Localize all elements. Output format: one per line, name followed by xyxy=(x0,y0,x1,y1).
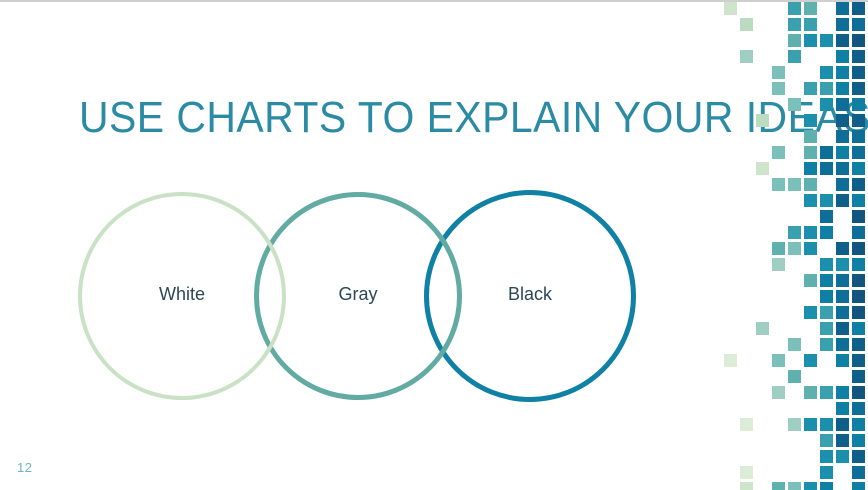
mosaic-cell xyxy=(852,386,865,399)
mosaic-cell xyxy=(836,114,849,127)
mosaic-cell xyxy=(820,322,833,335)
mosaic-cell xyxy=(788,34,801,47)
mosaic-cell xyxy=(772,354,785,367)
mosaic-cell xyxy=(820,82,833,95)
mosaic-cell xyxy=(836,418,849,431)
mosaic-cell xyxy=(836,146,849,159)
mosaic-cell xyxy=(836,306,849,319)
mosaic-cell xyxy=(740,50,753,63)
mosaic-cell xyxy=(852,50,865,63)
mosaic-cell xyxy=(788,98,801,111)
mosaic-cell xyxy=(852,194,865,207)
mosaic-cell xyxy=(852,18,865,31)
mosaic-cell xyxy=(788,418,801,431)
mosaic-cell xyxy=(772,258,785,271)
mosaic-cell xyxy=(820,194,833,207)
mosaic-cell xyxy=(836,450,849,463)
mosaic-cell xyxy=(820,434,833,447)
mosaic-cell xyxy=(820,146,833,159)
mosaic-cell xyxy=(836,50,849,63)
mosaic-cell xyxy=(772,66,785,79)
mosaic-cell xyxy=(852,130,865,143)
mosaic-cell xyxy=(836,274,849,287)
mosaic-cell xyxy=(852,146,865,159)
mosaic-cell xyxy=(836,402,849,415)
mosaic-cell xyxy=(852,482,865,490)
mosaic-cell xyxy=(852,114,865,127)
mosaic-cell xyxy=(804,162,817,175)
mosaic-cell xyxy=(820,338,833,351)
mosaic-cell xyxy=(820,418,833,431)
mosaic-cell xyxy=(788,18,801,31)
mosaic-cell xyxy=(820,34,833,47)
mosaic-cell xyxy=(804,130,817,143)
mosaic-cell xyxy=(852,66,865,79)
mosaic-cell xyxy=(836,322,849,335)
mosaic-cell xyxy=(836,354,849,367)
mosaic-cell xyxy=(836,258,849,271)
mosaic-cell xyxy=(836,18,849,31)
mosaic-cell xyxy=(804,226,817,239)
mosaic-cell xyxy=(820,386,833,399)
mosaic-cell xyxy=(804,306,817,319)
mosaic-cell xyxy=(756,322,769,335)
mosaic-cell xyxy=(820,306,833,319)
mosaic-cell xyxy=(852,322,865,335)
mosaic-cell xyxy=(756,162,769,175)
mosaic-cell xyxy=(852,2,865,15)
mosaic-cell xyxy=(804,482,817,490)
mosaic-cell xyxy=(852,306,865,319)
mosaic-cell xyxy=(852,226,865,239)
mosaic-cell xyxy=(836,66,849,79)
mosaic-cell xyxy=(820,450,833,463)
mosaic-cell xyxy=(852,434,865,447)
mosaic-cell xyxy=(804,386,817,399)
mosaic-cell xyxy=(836,162,849,175)
mosaic-cell xyxy=(852,34,865,47)
mosaic-cell xyxy=(836,98,849,111)
mosaic-cell xyxy=(804,194,817,207)
mosaic-cell xyxy=(756,114,769,127)
mosaic-cell xyxy=(820,258,833,271)
mosaic-cell xyxy=(852,290,865,303)
mosaic-cell xyxy=(804,274,817,287)
mosaic-cell xyxy=(836,434,849,447)
mosaic-cell xyxy=(804,146,817,159)
mosaic-cell xyxy=(804,242,817,255)
mosaic-cell xyxy=(804,18,817,31)
mosaic-cell xyxy=(788,482,801,490)
mosaic-cell xyxy=(788,178,801,191)
mosaic-cell xyxy=(772,178,785,191)
mosaic-cell xyxy=(820,290,833,303)
mosaic-cell xyxy=(772,242,785,255)
mosaic-cell xyxy=(852,98,865,111)
mosaic-cell xyxy=(836,242,849,255)
mosaic-cell xyxy=(820,274,833,287)
mosaic-cell xyxy=(820,98,833,111)
mosaic-cell xyxy=(804,418,817,431)
mosaic-cell xyxy=(772,82,785,95)
mosaic-cell xyxy=(788,226,801,239)
mosaic-cell xyxy=(788,2,801,15)
mosaic-cell xyxy=(852,242,865,255)
mosaic-cell xyxy=(724,354,737,367)
venn-circle-white[interactable] xyxy=(78,192,286,400)
mosaic-cell xyxy=(740,466,753,479)
mosaic-cell xyxy=(852,178,865,191)
mosaic-cell xyxy=(820,226,833,239)
mosaic-cell xyxy=(836,130,849,143)
venn-diagram: White Gray Black xyxy=(0,0,720,490)
slide-canvas: USE CHARTS TO EXPLAIN YOUR IDEAS White G… xyxy=(0,0,868,490)
mosaic-cell xyxy=(820,210,833,223)
decorative-pixel-mosaic xyxy=(716,0,868,490)
mosaic-cell xyxy=(836,194,849,207)
mosaic-cell xyxy=(852,402,865,415)
mosaic-cell xyxy=(740,18,753,31)
mosaic-cell xyxy=(852,370,865,383)
mosaic-cell xyxy=(852,450,865,463)
mosaic-cell xyxy=(852,418,865,431)
mosaic-cell xyxy=(836,338,849,351)
mosaic-cell xyxy=(804,2,817,15)
mosaic-cell xyxy=(772,386,785,399)
mosaic-cell xyxy=(788,370,801,383)
mosaic-cell xyxy=(772,146,785,159)
mosaic-cell xyxy=(804,34,817,47)
mosaic-cell xyxy=(836,2,849,15)
mosaic-cell xyxy=(788,50,801,63)
mosaic-cell xyxy=(788,338,801,351)
mosaic-cell xyxy=(804,354,817,367)
mosaic-cell xyxy=(804,114,817,127)
mosaic-cell xyxy=(852,466,865,479)
mosaic-cell xyxy=(740,418,753,431)
mosaic-cell xyxy=(820,466,833,479)
mosaic-cell xyxy=(836,178,849,191)
page-number: 12 xyxy=(17,460,32,475)
mosaic-cell xyxy=(772,482,785,490)
mosaic-cell xyxy=(852,338,865,351)
mosaic-cell xyxy=(852,82,865,95)
mosaic-cell xyxy=(804,82,817,95)
mosaic-cell xyxy=(804,178,817,191)
mosaic-cell xyxy=(740,482,753,490)
mosaic-cell xyxy=(836,82,849,95)
mosaic-cell xyxy=(788,242,801,255)
mosaic-cell xyxy=(852,274,865,287)
mosaic-cell xyxy=(820,482,833,490)
mosaic-cell xyxy=(820,162,833,175)
mosaic-cell xyxy=(852,354,865,367)
mosaic-cell xyxy=(852,210,865,223)
mosaic-cell xyxy=(852,162,865,175)
mosaic-cell xyxy=(836,290,849,303)
mosaic-cell xyxy=(724,2,737,15)
mosaic-cell xyxy=(836,386,849,399)
mosaic-cell xyxy=(836,34,849,47)
mosaic-cell xyxy=(820,66,833,79)
mosaic-cell xyxy=(852,258,865,271)
